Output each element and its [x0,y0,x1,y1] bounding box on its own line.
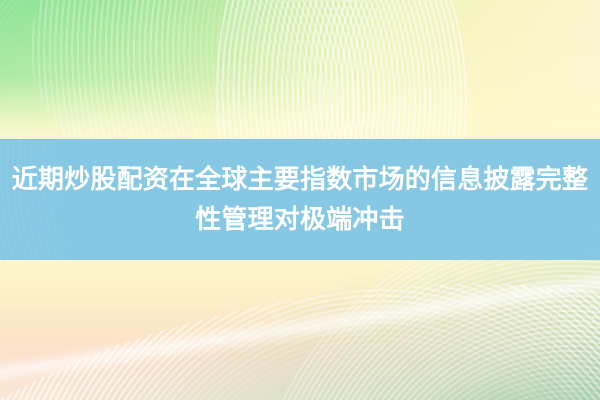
bottom-gradient-zone [0,260,600,400]
top-gradient-zone [0,0,600,139]
blue-headline-band: 近期炒股配资在全球主要指数市场的信息披露完整 性管理对极端冲击 [0,139,600,260]
headline-line-1: 近期炒股配资在全球主要指数市场的信息披露完整 [12,160,588,200]
promotional-banner: 近期炒股配资在全球主要指数市场的信息披露完整 性管理对极端冲击 [0,0,600,400]
headline-line-2: 性管理对极端冲击 [195,200,405,240]
top-right-arc-pattern-icon [215,0,600,139]
headline-block: 近期炒股配资在全球主要指数市场的信息披露完整 性管理对极端冲击 [0,139,600,260]
